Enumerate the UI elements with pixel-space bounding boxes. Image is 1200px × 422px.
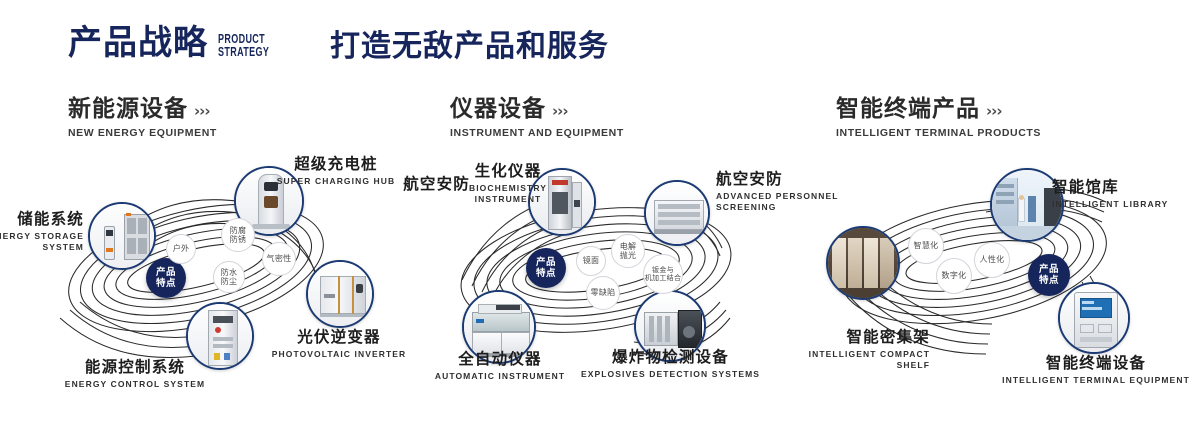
caption-en: INTELLIGENT COMPACT SHELF: [754, 349, 930, 371]
caption-en: AUTOMATIC INSTRUMENT: [420, 371, 580, 382]
hub-product-features[interactable]: 产品 特点: [146, 258, 186, 298]
section-title-cn-text: 仪器设备: [450, 96, 546, 122]
hub-line-1: 产品: [156, 267, 176, 278]
caption-cn: 智能终端设备: [998, 354, 1194, 373]
feature-bubble-label: 户外: [173, 244, 190, 253]
caption-en: BIOCHEMISTRY INSTRUMENT: [438, 183, 578, 205]
page-title-english-line1: PRODUCT: [218, 33, 269, 46]
feature-bubble: 气密性: [262, 242, 296, 276]
section-title-cn: 新能源设备›››: [68, 96, 217, 122]
feature-bubble: 镜面: [576, 246, 606, 276]
feature-bubble-label: 智慧化: [914, 241, 939, 250]
diagram-intelligent-terminal: 产品 特点 智慧化 人性化 数字化 智能馆库 INTELLIGENT LIBRA…: [790, 150, 1200, 395]
caption-cn: 智能馆库: [1052, 178, 1200, 197]
page-subtitle: 打造无敌产品和服务: [330, 30, 609, 63]
hub-product-features[interactable]: 产品 特点: [1028, 254, 1070, 296]
chevrons-icon: ›››: [194, 102, 210, 120]
caption-cn: 全自动仪器: [420, 350, 580, 369]
section-title-instrument: 仪器设备››› INSTRUMENT AND EQUIPMENT: [450, 96, 624, 139]
feature-bubble-label: 防腐 防锈: [230, 226, 247, 244]
section-title-cn: 智能终端产品›››: [836, 96, 1041, 122]
section-title-en: INSTRUMENT AND EQUIPMENT: [450, 127, 624, 139]
caption-en: ENERGY STORAGE SYSTEM: [0, 231, 84, 253]
caption-energy-storage-system: 储能系统 ENERGY STORAGE SYSTEM: [0, 210, 84, 253]
caption-intelligent-terminal-equipment: 智能终端设备 INTELLIGENT TERMINAL EQUIPMENT: [998, 354, 1194, 386]
feature-bubble-label: 防水 防尘: [221, 268, 238, 286]
feature-bubble: 数字化: [936, 258, 972, 294]
caption-en: INTELLIGENT LIBRARY: [1052, 199, 1200, 210]
caption-cn: 能源控制系统: [30, 358, 240, 377]
caption-cn: 储能系统: [0, 210, 84, 229]
poster-canvas: 产品战略 PRODUCT STRATEGY 打造无敌产品和服务 新能源设备›››…: [0, 0, 1200, 422]
section-title-cn-text: 新能源设备: [68, 96, 188, 122]
node-advanced-personnel-screening[interactable]: [644, 180, 710, 246]
caption-en: INTELLIGENT TERMINAL EQUIPMENT: [998, 375, 1194, 386]
caption-energy-control-system: 能源控制系统 ENERGY CONTROL SYSTEM: [30, 358, 240, 390]
feature-bubble-label: 钣金与 机加工结合: [645, 266, 682, 282]
caption-intelligent-compact-shelf: 智能密集架 INTELLIGENT COMPACT SHELF: [754, 328, 930, 371]
node-intelligent-terminal-equipment[interactable]: [1058, 282, 1130, 354]
caption-cn: 超级充电桩: [246, 155, 426, 174]
feature-bubble: 电解 抛光: [611, 234, 645, 268]
caption-en: ENERGY CONTROL SYSTEM: [30, 379, 240, 390]
feature-bubble-label: 镜面: [583, 256, 600, 265]
caption-biochemistry-instrument: 生化仪器 BIOCHEMISTRY INSTRUMENT: [438, 162, 578, 205]
section-title-en: INTELLIGENT TERMINAL PRODUCTS: [836, 127, 1041, 139]
section-title-intelligent-terminal: 智能终端产品››› INTELLIGENT TERMINAL PRODUCTS: [836, 96, 1041, 139]
chevrons-icon: ›››: [552, 102, 568, 120]
caption-cn: 智能密集架: [754, 328, 930, 347]
section-title-cn: 仪器设备›››: [450, 96, 624, 122]
intelligent-terminal-equipment-photo: [1060, 284, 1128, 352]
poster-header: 产品战略 PRODUCT STRATEGY: [68, 26, 289, 60]
section-title-cn-text: 智能终端产品: [836, 96, 980, 122]
feature-bubble: 防腐 防锈: [221, 218, 255, 252]
feature-bubble: 人性化: [974, 242, 1010, 278]
caption-explosives-detection-systems: 爆炸物检测设备 EXPLOSIVES DETECTION SYSTEMS: [578, 348, 763, 380]
caption-cn: 生化仪器: [438, 162, 578, 181]
energy-storage-photo: [90, 204, 154, 268]
section-title-new-energy: 新能源设备››› NEW ENERGY EQUIPMENT: [68, 96, 217, 139]
feature-bubble: 防水 防尘: [213, 261, 245, 293]
advanced-personnel-screening-photo: [646, 182, 708, 244]
caption-intelligent-library: 智能馆库 INTELLIGENT LIBRARY: [1052, 178, 1200, 210]
hub-line-2: 特点: [156, 278, 176, 289]
feature-bubble-label: 电解 抛光: [620, 242, 637, 260]
caption-cn: 爆炸物检测设备: [578, 348, 763, 367]
caption-en: EXPLOSIVES DETECTION SYSTEMS: [578, 369, 763, 380]
node-photovoltaic-inverter[interactable]: [306, 260, 374, 328]
hub-line-1: 产品: [1039, 264, 1059, 275]
hub-line-2: 特点: [1039, 275, 1059, 286]
section-title-en: NEW ENERGY EQUIPMENT: [68, 127, 217, 139]
feature-bubble: 智慧化: [908, 228, 944, 264]
feature-bubble: 零缺陷: [586, 276, 620, 310]
hub-product-features[interactable]: 产品 特点: [526, 248, 566, 288]
feature-bubble-label: 数字化: [942, 271, 967, 280]
feature-bubble: 钣金与 机加工结合: [643, 254, 683, 294]
caption-automatic-instrument: 全自动仪器 AUTOMATIC INSTRUMENT: [420, 350, 580, 382]
intelligent-compact-shelf-photo: [828, 228, 898, 298]
page-title: 产品战略: [68, 26, 208, 60]
feature-bubble: 户外: [166, 234, 196, 264]
page-title-english-line2: STRATEGY: [218, 46, 269, 59]
hub-line-1: 产品: [536, 257, 556, 268]
hub-line-2: 特点: [536, 268, 556, 279]
node-intelligent-compact-shelf[interactable]: [826, 226, 900, 300]
feature-bubble-label: 人性化: [980, 255, 1005, 264]
page-title-english: PRODUCT STRATEGY: [218, 33, 269, 58]
feature-bubble-label: 气密性: [267, 254, 292, 263]
node-energy-storage-system[interactable]: [88, 202, 156, 270]
feature-bubble-label: 零缺陷: [591, 288, 616, 297]
chevrons-icon: ›››: [986, 102, 1002, 120]
photovoltaic-inverter-photo: [308, 262, 372, 326]
